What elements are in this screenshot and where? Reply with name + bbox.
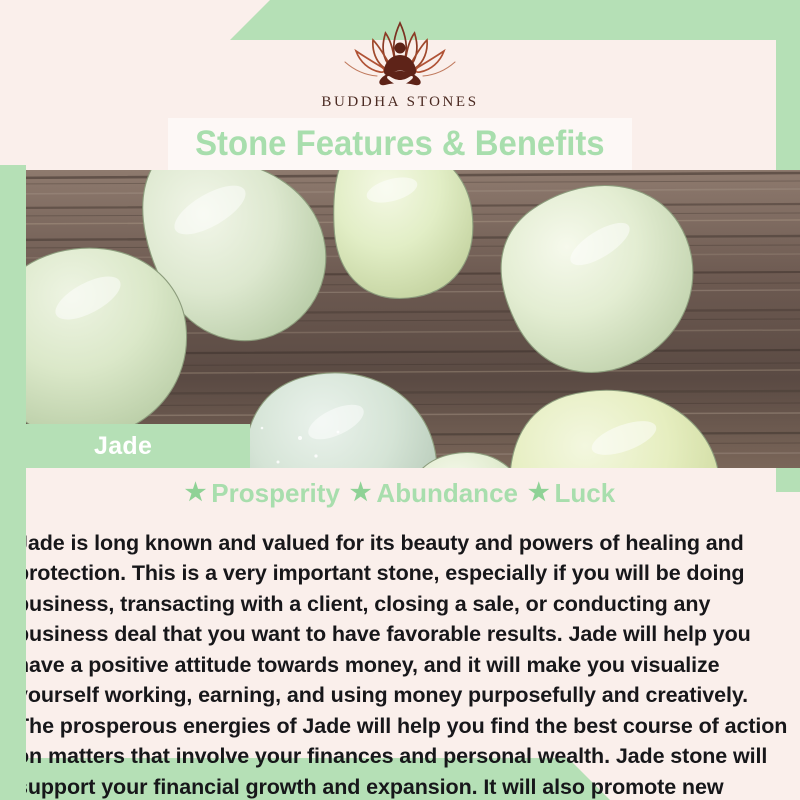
star-icon: ★	[185, 481, 207, 505]
infographic-card: BUDDHA STONES Stone Features & Benefits	[0, 0, 800, 800]
brand-logo: BUDDHA STONES	[0, 18, 800, 118]
benefit-item-abundance: ★ Abundance	[350, 478, 518, 509]
benefits-list: ★ Prosperity ★ Abundance ★ Luck	[0, 478, 800, 508]
benefit-label: Prosperity	[211, 478, 340, 509]
star-icon: ★	[528, 481, 550, 505]
benefit-item-luck: ★ Luck	[528, 478, 615, 509]
star-icon: ★	[350, 481, 372, 505]
benefit-label: Luck	[555, 478, 616, 509]
stone-description: Jade is long known and valued for its be…	[16, 528, 788, 800]
benefit-label: Abundance	[376, 478, 518, 509]
benefit-item-prosperity: ★ Prosperity	[185, 478, 340, 509]
page-title-band: Stone Features & Benefits	[168, 118, 632, 170]
page-title: Stone Features & Benefits	[195, 124, 605, 164]
brand-name: BUDDHA STONES	[321, 94, 478, 111]
decor-left-strip	[0, 165, 26, 800]
lotus-meditation-icon	[325, 18, 475, 90]
stone-name-label: Jade	[94, 432, 152, 461]
stone-name-badge: Jade	[26, 424, 250, 468]
